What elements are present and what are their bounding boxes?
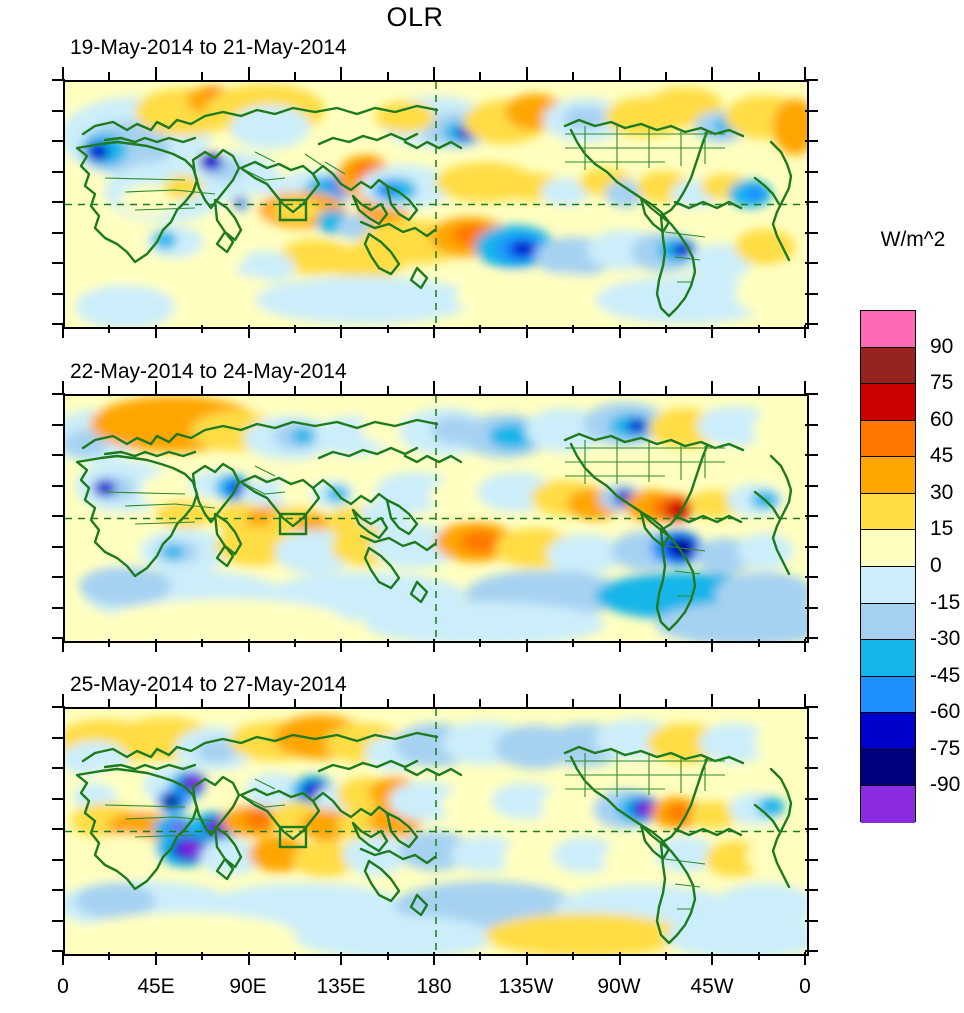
tick-x-major (619, 639, 621, 652)
tick-y (52, 140, 65, 142)
tick-x-major (62, 952, 64, 965)
tick-x-major (248, 639, 250, 652)
colorbar-band (861, 494, 915, 531)
tick-x-minor (387, 72, 389, 80)
xlabel-90E: 90E (218, 975, 278, 999)
tick-x-major (340, 325, 342, 338)
tick-x-minor (758, 639, 760, 647)
tick-x-major (804, 67, 806, 80)
tick-x-minor (201, 639, 203, 647)
tick-y (805, 737, 818, 739)
tick-y (805, 485, 818, 487)
tick-x-major (711, 694, 713, 707)
tick-x-major (433, 952, 435, 965)
tick-y (52, 576, 65, 578)
panel-1-title: 19-May-2014 to 21-May-2014 (70, 36, 347, 60)
tick-x-minor (758, 386, 760, 394)
colorbar-units-label: W/m^2 (858, 228, 964, 252)
tick-y (52, 293, 65, 295)
colorbar-tick-label: 90 (930, 335, 953, 359)
olr-figure: OLR 19-May-2014 to 21-May-2014 (0, 0, 964, 1013)
panel-2-map-inner (65, 396, 807, 641)
tick-x-minor (201, 952, 203, 960)
colorbar-tick-label: 45 (930, 444, 953, 468)
tick-y (805, 637, 818, 639)
panel-3-map-svg (65, 709, 807, 954)
tick-x-minor (387, 952, 389, 960)
tick-x-major (619, 381, 621, 394)
tick-x-minor (294, 699, 296, 707)
colorbar-band (861, 677, 915, 714)
tick-x-major (155, 325, 157, 338)
tick-x-major (248, 381, 250, 394)
tick-x-minor (294, 325, 296, 333)
tick-y (805, 546, 818, 548)
tick-x-minor (294, 72, 296, 80)
tick-y (805, 171, 818, 173)
tick-x-major (619, 325, 621, 338)
tick-x-major (711, 381, 713, 394)
colorbar-band (861, 713, 915, 750)
tick-x-major (340, 381, 342, 394)
panel-3-map[interactable] (63, 707, 809, 956)
tick-x-major (62, 67, 64, 80)
tick-y (52, 607, 65, 609)
tick-y (52, 201, 65, 203)
tick-x-minor (108, 952, 110, 960)
tick-x-minor (201, 72, 203, 80)
xlabel-90W: 90W (589, 975, 649, 999)
colorbar[interactable] (860, 310, 916, 822)
tick-x-minor (758, 952, 760, 960)
tick-y (52, 262, 65, 264)
xlabel-45E: 45E (126, 975, 186, 999)
tick-x-major (155, 952, 157, 965)
tick-x-major (804, 381, 806, 394)
colorbar-band (861, 750, 915, 787)
tick-y (805, 767, 818, 769)
colorbar-tick-label: 15 (930, 517, 953, 541)
tick-x-minor (479, 639, 481, 647)
tick-x-minor (201, 386, 203, 394)
tick-x-major (804, 694, 806, 707)
tick-x-minor (387, 699, 389, 707)
colorbar-band (861, 604, 915, 641)
tick-x-minor (108, 639, 110, 647)
tick-y (805, 828, 818, 830)
colorbar-tick-label: 60 (930, 408, 953, 432)
tick-x-major (526, 381, 528, 394)
tick-x-minor (758, 72, 760, 80)
tick-x-major (526, 67, 528, 80)
tick-x-minor (108, 699, 110, 707)
tick-x-major (619, 952, 621, 965)
tick-x-major (62, 381, 64, 394)
tick-y (52, 546, 65, 548)
tick-y (805, 201, 818, 203)
tick-x-minor (665, 386, 667, 394)
tick-y (805, 576, 818, 578)
tick-x-major (619, 694, 621, 707)
tick-y (52, 424, 65, 426)
colorbar-band (861, 311, 915, 348)
tick-x-major (711, 325, 713, 338)
tick-x-minor (758, 325, 760, 333)
tick-x-minor (758, 699, 760, 707)
tick-y (805, 798, 818, 800)
colorbar-tick-label: 0 (930, 554, 942, 578)
tick-x-major (804, 325, 806, 338)
tick-x-major (155, 694, 157, 707)
tick-x-minor (479, 952, 481, 960)
tick-y (52, 515, 65, 517)
tick-x-minor (387, 325, 389, 333)
tick-y (52, 110, 65, 112)
tick-x-major (62, 325, 64, 338)
colorbar-band (861, 786, 915, 823)
tick-x-minor (387, 386, 389, 394)
tick-x-minor (572, 325, 574, 333)
panel-2-map[interactable] (63, 394, 809, 643)
tick-y (805, 889, 818, 891)
tick-y (52, 454, 65, 456)
tick-x-minor (108, 386, 110, 394)
tick-x-major (248, 952, 250, 965)
tick-x-major (155, 639, 157, 652)
tick-x-major (804, 639, 806, 652)
tick-x-minor (387, 639, 389, 647)
tick-y (805, 706, 818, 708)
tick-x-major (433, 694, 435, 707)
tick-x-major (619, 67, 621, 80)
tick-x-major (711, 67, 713, 80)
tick-y (52, 171, 65, 173)
tick-x-major (248, 67, 250, 80)
tick-x-major (62, 639, 64, 652)
tick-x-minor (665, 639, 667, 647)
tick-x-major (804, 952, 806, 965)
tick-x-major (711, 639, 713, 652)
tick-x-minor (201, 325, 203, 333)
colorbar-tick-label: -90 (930, 773, 960, 797)
tick-x-major (155, 67, 157, 80)
colorbar-tick-label: -45 (930, 664, 960, 688)
tick-x-major (433, 67, 435, 80)
colorbar-band (861, 567, 915, 604)
colorbar-band (861, 530, 915, 567)
figure-title: OLR (0, 2, 830, 33)
tick-y (52, 889, 65, 891)
panel-1-map[interactable] (63, 80, 809, 329)
tick-y (52, 859, 65, 861)
tick-x-major (526, 694, 528, 707)
tick-x-minor (294, 639, 296, 647)
tick-x-minor (572, 699, 574, 707)
tick-y (805, 293, 818, 295)
tick-x-major (340, 694, 342, 707)
tick-y (805, 920, 818, 922)
tick-x-minor (572, 72, 574, 80)
xlabel-0-right: 0 (775, 975, 835, 999)
xlabel-0-left: 0 (33, 975, 93, 999)
tick-y (805, 232, 818, 234)
tick-y (52, 737, 65, 739)
tick-x-major (155, 381, 157, 394)
panel-2-map-svg (65, 396, 807, 641)
tick-x-major (526, 952, 528, 965)
tick-x-minor (479, 325, 481, 333)
tick-x-minor (665, 72, 667, 80)
tick-y (52, 920, 65, 922)
colorbar-band (861, 421, 915, 458)
tick-x-major (526, 325, 528, 338)
tick-y (805, 323, 818, 325)
tick-y (52, 767, 65, 769)
tick-y (805, 424, 818, 426)
tick-y (805, 393, 818, 395)
tick-y (805, 262, 818, 264)
colorbar-band (861, 640, 915, 677)
panel-1-map-svg (65, 82, 807, 327)
colorbar-tick-label: 30 (930, 481, 953, 505)
tick-y (805, 140, 818, 142)
colorbar-band (861, 348, 915, 385)
panel-1-map-inner (65, 82, 807, 327)
tick-y (52, 485, 65, 487)
tick-y (805, 79, 818, 81)
colorbar-tick-label: -30 (930, 627, 960, 651)
tick-x-minor (294, 952, 296, 960)
tick-y (805, 607, 818, 609)
tick-x-major (526, 639, 528, 652)
tick-y (52, 232, 65, 234)
tick-x-minor (479, 72, 481, 80)
panel-3-map-inner (65, 709, 807, 954)
tick-y (805, 110, 818, 112)
tick-x-major (340, 67, 342, 80)
colorbar-tick-label: 75 (930, 371, 953, 395)
tick-x-minor (108, 325, 110, 333)
panel-2-title: 22-May-2014 to 24-May-2014 (70, 360, 347, 384)
tick-y (52, 828, 65, 830)
tick-x-minor (201, 699, 203, 707)
tick-x-major (340, 952, 342, 965)
tick-y (805, 859, 818, 861)
tick-y (52, 798, 65, 800)
tick-x-minor (479, 386, 481, 394)
colorbar-band (861, 457, 915, 494)
tick-x-major (248, 694, 250, 707)
colorbar-tick-label: -75 (930, 737, 960, 761)
tick-x-major (433, 325, 435, 338)
tick-x-minor (479, 699, 481, 707)
tick-y (805, 950, 818, 952)
colorbar-tick-label: -60 (930, 700, 960, 724)
tick-x-minor (665, 325, 667, 333)
tick-x-major (62, 694, 64, 707)
tick-x-minor (572, 386, 574, 394)
colorbar-tick-label: -15 (930, 591, 960, 615)
tick-x-minor (665, 952, 667, 960)
tick-x-major (340, 639, 342, 652)
tick-x-major (433, 639, 435, 652)
tick-x-minor (294, 386, 296, 394)
xlabel-45W: 45W (682, 975, 742, 999)
tick-y (805, 454, 818, 456)
xlabel-135W: 135W (496, 975, 556, 999)
tick-x-minor (572, 639, 574, 647)
tick-x-minor (572, 952, 574, 960)
tick-x-minor (108, 72, 110, 80)
tick-x-major (433, 381, 435, 394)
tick-x-major (248, 325, 250, 338)
tick-x-minor (665, 699, 667, 707)
xlabel-180: 180 (404, 975, 464, 999)
colorbar-band (861, 384, 915, 421)
xlabel-135E: 135E (311, 975, 371, 999)
panel-3-title: 25-May-2014 to 27-May-2014 (70, 673, 347, 697)
tick-y (805, 515, 818, 517)
tick-x-major (711, 952, 713, 965)
